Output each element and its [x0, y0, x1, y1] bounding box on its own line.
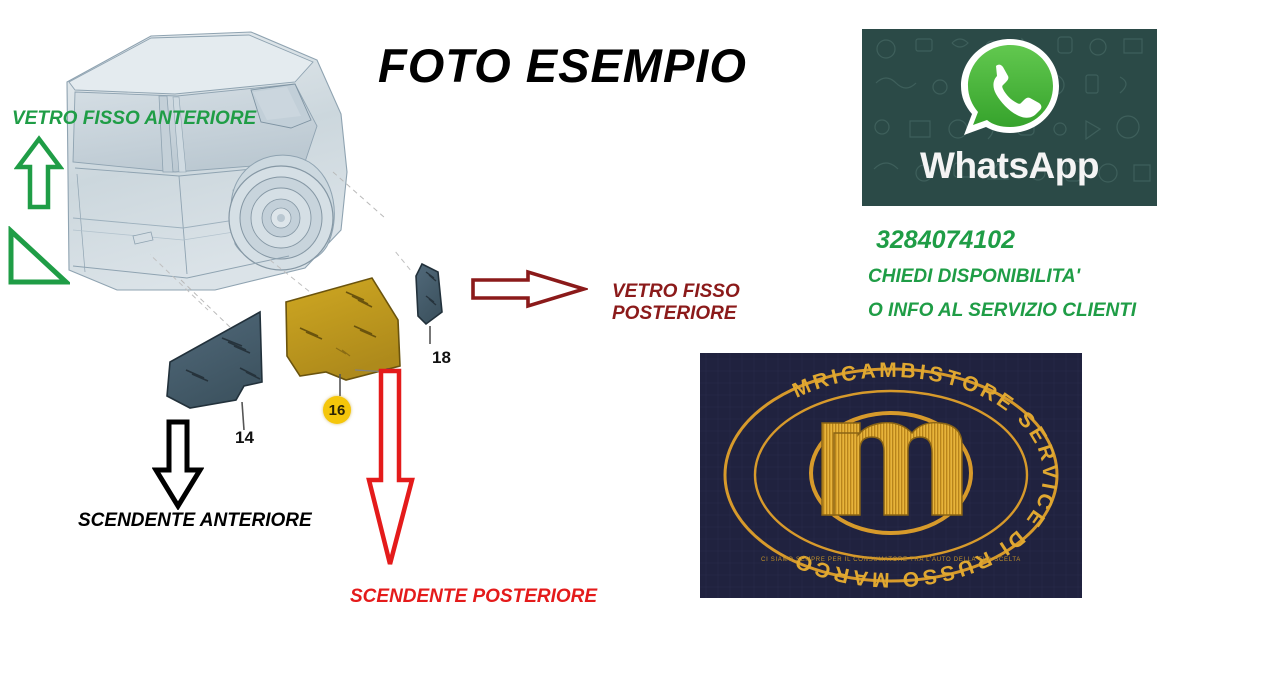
label-vetro-fisso-posteriore-line-2: POSTERIORE: [612, 303, 740, 325]
right-arrow-dark-red-icon: [470, 268, 588, 310]
label-scendente-anteriore: SCENDENTE ANTERIORE: [78, 510, 312, 532]
glass-parts-exploded-view: [150, 250, 490, 435]
shop-logo: MRICAMBISTORE SERVICE DI RUSSO MARCO CI …: [700, 353, 1082, 598]
whatsapp-banner: WhatsApp: [862, 29, 1157, 206]
page-title: FOTO ESEMPIO: [378, 38, 747, 93]
part-number-18: 18: [432, 348, 451, 368]
label-vetro-fisso-anteriore: VETRO FISSO ANTERIORE: [12, 108, 256, 130]
label-scendente-posteriore: SCENDENTE POSTERIORE: [350, 586, 597, 608]
whatsapp-phone-icon: [958, 37, 1062, 141]
shop-logo-monogram: [822, 423, 962, 515]
label-vetro-fisso-posteriore-line-1: VETRO FISSO: [612, 281, 740, 303]
down-arrow-red-icon: [366, 368, 416, 568]
part-16-shape: [286, 278, 400, 380]
contact-line-1: CHIEDI DISPONIBILITA': [868, 266, 1080, 288]
part-number-16-label: 16: [329, 402, 346, 419]
shop-logo-fine-print: CI SIAMO SEMPRE PER IL CONSUMATORE TRA L…: [761, 557, 1021, 563]
part-number-14: 14: [235, 428, 254, 448]
label-vetro-fisso-posteriore: VETRO FISSO POSTERIORE: [612, 281, 740, 326]
phone-number: 3284074102: [876, 226, 1015, 255]
part-18-shape: [416, 264, 442, 324]
part-number-16-badge: 16: [323, 396, 351, 424]
up-arrow-green-icon: [14, 135, 64, 211]
triangle-green-icon: [6, 226, 70, 288]
screenshot-root: 14 16 17 18 VETRO FISSO ANTERIORE VETRO …: [0, 0, 1264, 678]
down-arrow-black-icon: [152, 418, 204, 510]
whatsapp-wordmark: WhatsApp: [862, 145, 1157, 187]
part-14-shape: [167, 312, 262, 408]
shop-logo-graphic: MRICAMBISTORE SERVICE DI RUSSO MARCO CI …: [700, 353, 1082, 598]
contact-line-2: O INFO AL SERVIZIO CLIENTI: [868, 300, 1136, 322]
